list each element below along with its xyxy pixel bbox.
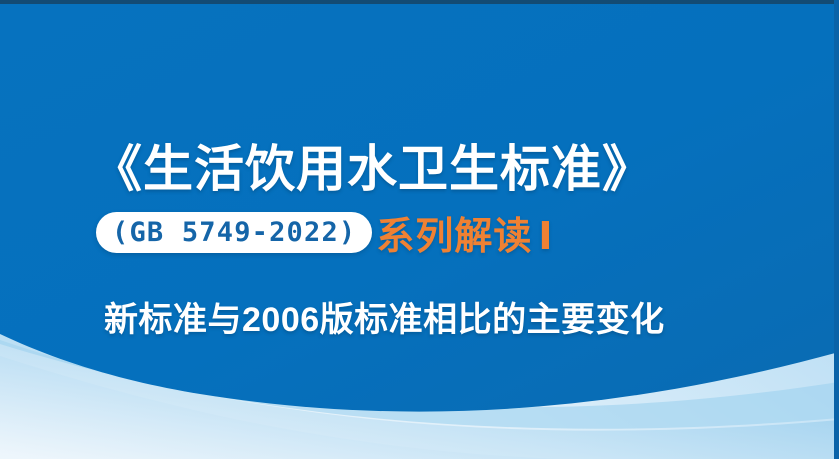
- standard-code-row: (GB 5749-2022) 系列解读Ⅰ: [96, 211, 553, 253]
- series-label-text: 系列解读: [376, 216, 532, 258]
- poster-content: 《生活饮用水卫生标准》 (GB 5749-2022) 系列解读Ⅰ 新标准与200…: [0, 0, 839, 459]
- poster-title: 《生活饮用水卫生标准》: [92, 138, 653, 200]
- standard-code-badge: (GB 5749-2022): [96, 212, 372, 253]
- poster-banner: 《生活饮用水卫生标准》 (GB 5749-2022) 系列解读Ⅰ 新标准与200…: [0, 0, 839, 459]
- series-number: Ⅰ: [538, 216, 552, 258]
- series-label-group: 系列解读Ⅰ: [376, 205, 552, 260]
- poster-subtitle: 新标准与2006版标准相比的主要变化: [104, 292, 665, 341]
